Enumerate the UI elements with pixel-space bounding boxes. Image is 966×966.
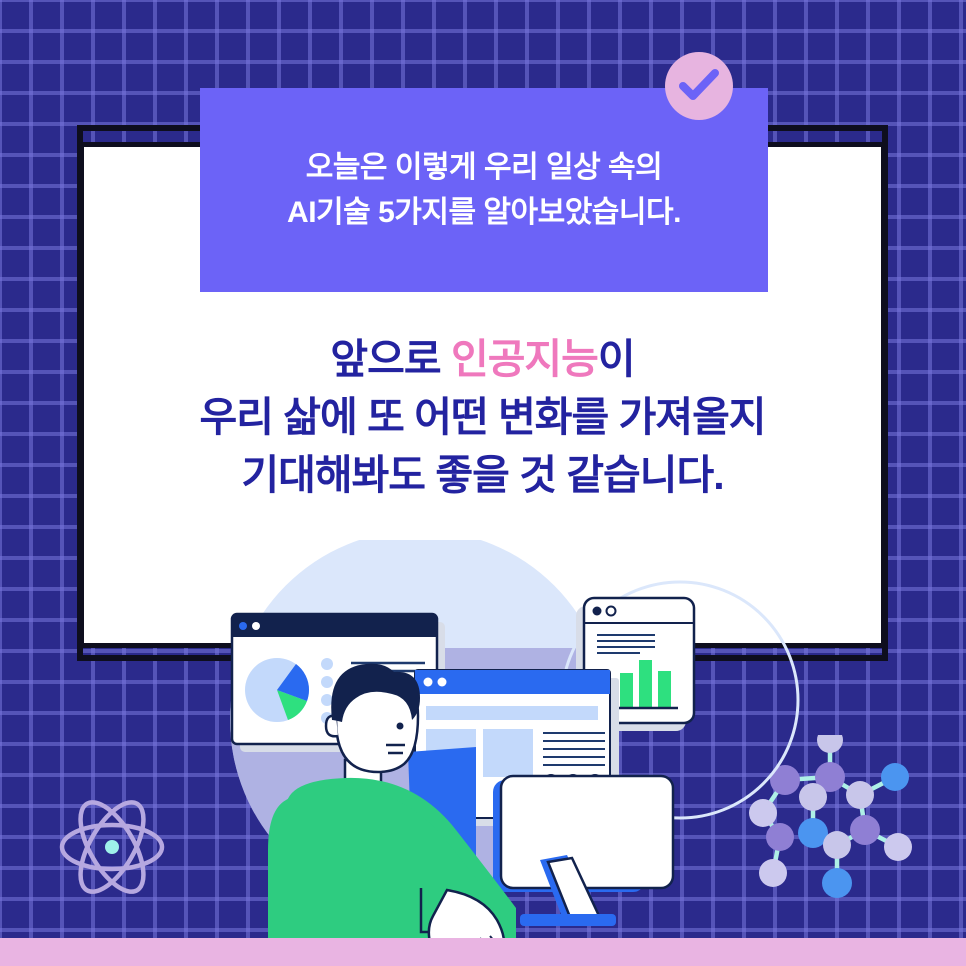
headline-highlight: 인공지능 [451,336,598,382]
legend-bullet [321,676,333,688]
legend-bullet [321,694,333,706]
headline-block: 앞으로 인공지능이 우리 삶에 또 어떤 변화를 가져올지 기대해봐도 좋을 것… [79,330,886,505]
window-dot [239,622,247,630]
banner-line-2: AI기술 5가지를 알아보았습니다. [287,190,681,235]
layout-block [483,729,533,777]
check-icon [665,52,733,120]
window-dot [607,607,616,616]
headline-line-3: 기대해봐도 좋을 것 같습니다. [79,446,886,504]
window-dot [593,607,602,616]
headline-post: 이 [598,336,635,382]
banner-box: 오늘은 이렇게 우리 일상 속의 AI기술 5가지를 알아보았습니다. [200,88,768,292]
headline-pre: 앞으로 [330,336,451,382]
social-card: 오늘은 이렇게 우리 일상 속의 AI기술 5가지를 알아보았습니다. 앞으로 … [0,0,966,966]
headline-line-1: 앞으로 인공지능이 [79,330,886,388]
eye [397,723,404,730]
check-glyph [679,68,719,104]
bottom-bar [0,938,966,966]
window-dot [252,622,260,630]
banner-line-1: 오늘은 이렇게 우리 일상 속의 [306,145,663,190]
window-dot [438,678,447,687]
headline-line-2: 우리 삶에 또 어떤 변화를 가져올지 [79,388,886,446]
window-dot [424,678,433,687]
legend-bullet [321,658,333,670]
illustration [0,540,966,966]
layout-header-block [426,706,598,720]
